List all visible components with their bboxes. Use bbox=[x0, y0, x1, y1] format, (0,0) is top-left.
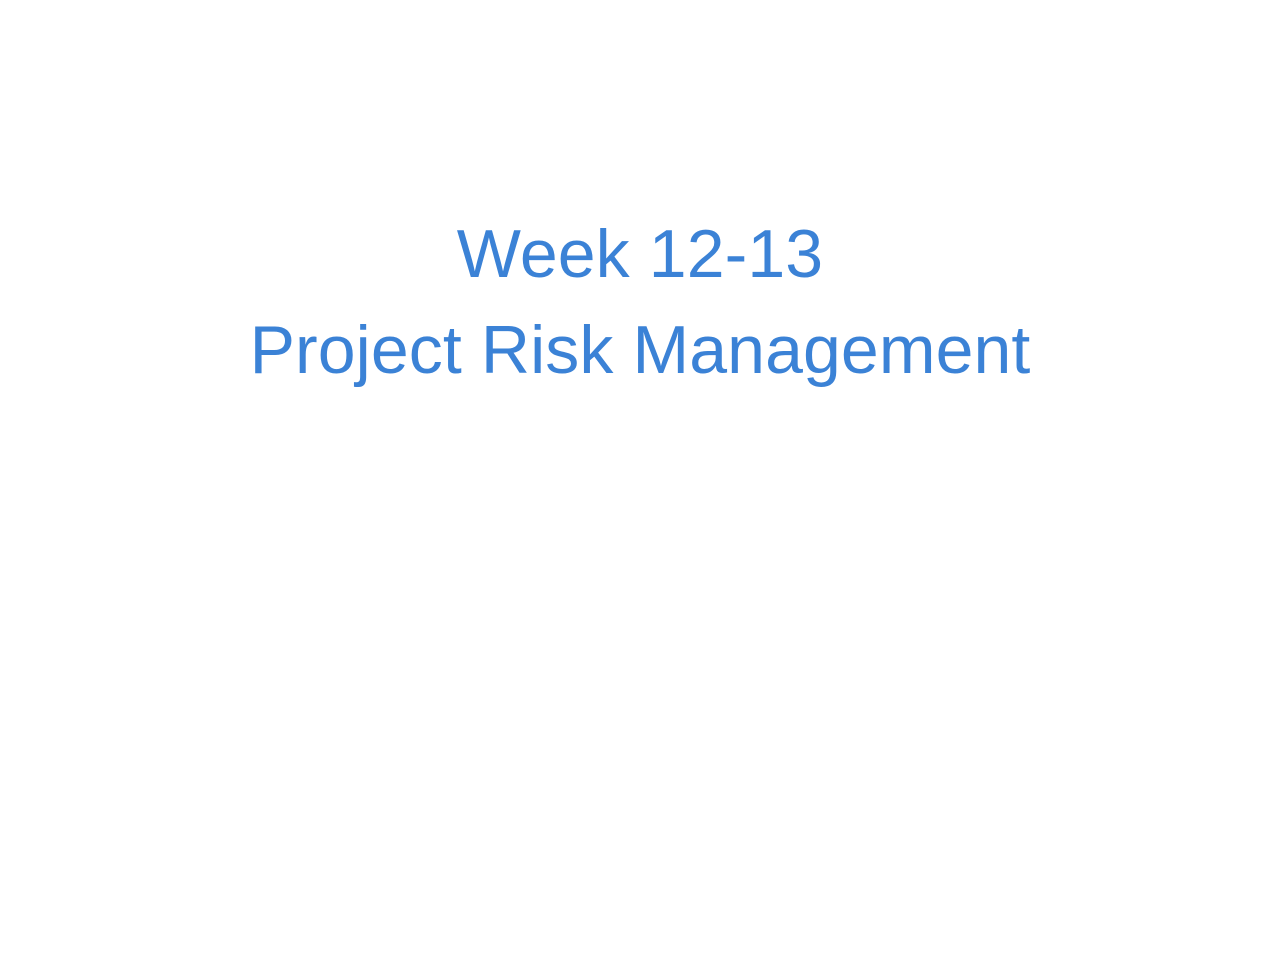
title-line-1: Week 12-13 bbox=[64, 206, 1216, 302]
slide-title[interactable]: Week 12-13 Project Risk Management bbox=[64, 206, 1216, 398]
slide-body-placeholder[interactable] bbox=[64, 420, 1216, 900]
slide-canvas: Week 12-13 Project Risk Management bbox=[0, 0, 1280, 960]
title-line-2: Project Risk Management bbox=[64, 302, 1216, 398]
